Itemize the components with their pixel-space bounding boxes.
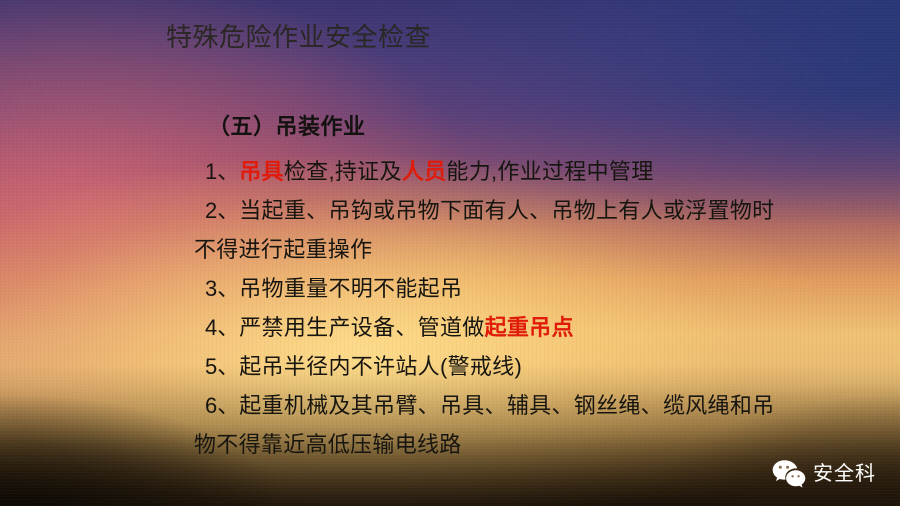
checklist-item: 4、严禁用生产设备、管道做起重吊点 bbox=[205, 308, 854, 347]
slide-title: 特殊危险作业安全检查 bbox=[166, 20, 431, 54]
checklist-item-text: 能力,作业过程中管理 bbox=[446, 159, 653, 184]
checklist-item-text: 检查,持证及 bbox=[284, 159, 402, 184]
checklist-item-text: 严禁用生产设备、管道做 bbox=[239, 315, 484, 340]
checklist-item-continuation: 不得进行起重操作 bbox=[194, 230, 854, 269]
section-heading: （五）吊装作业 bbox=[208, 112, 854, 142]
checklist-item: 2、当起重、吊钩或吊物下面有人、吊物上有人或浮置物时 bbox=[205, 191, 854, 230]
checklist-item-number: 1、 bbox=[205, 159, 239, 184]
checklist-item-text: 当起重、吊钩或吊物下面有人、吊物上有人或浮置物时 bbox=[239, 198, 774, 223]
slide-body: （五）吊装作业 1、吊具检查,持证及人员能力,作业过程中管理2、当起重、吊钩或吊… bbox=[194, 112, 854, 464]
checklist-item-number: 5、 bbox=[205, 354, 239, 379]
checklist-item-highlight: 吊具 bbox=[239, 159, 284, 184]
wechat-watermark: 安全科 bbox=[772, 459, 876, 489]
wechat-label: 安全科 bbox=[813, 461, 876, 487]
checklist-item: 5、起吊半径内不许站人(警戒线) bbox=[205, 347, 854, 386]
checklist-item-number: 6、 bbox=[205, 393, 239, 418]
checklist-item-number: 2、 bbox=[205, 198, 239, 223]
checklist-item-highlight: 人员 bbox=[402, 159, 447, 184]
checklist: 1、吊具检查,持证及人员能力,作业过程中管理2、当起重、吊钩或吊物下面有人、吊物… bbox=[194, 152, 854, 464]
checklist-item-number: 4、 bbox=[205, 315, 239, 340]
checklist-item: 6、起重机械及其吊臂、吊具、辅具、钢丝绳、缆风绳和吊 bbox=[205, 386, 854, 425]
checklist-item-continuation: 物不得靠近高低压输电线路 bbox=[194, 425, 854, 464]
checklist-item-text: 吊物重量不明不能起吊 bbox=[239, 276, 462, 301]
checklist-item-text: 起重机械及其吊臂、吊具、辅具、钢丝绳、缆风绳和吊 bbox=[239, 393, 774, 418]
wechat-icon bbox=[772, 459, 806, 489]
checklist-item-number: 3、 bbox=[205, 276, 239, 301]
checklist-item-highlight: 起重吊点 bbox=[485, 315, 574, 340]
slide-root: 特殊危险作业安全检查 （五）吊装作业 1、吊具检查,持证及人员能力,作业过程中管… bbox=[0, 0, 900, 506]
checklist-item: 1、吊具检查,持证及人员能力,作业过程中管理 bbox=[205, 152, 854, 191]
checklist-item: 3、吊物重量不明不能起吊 bbox=[205, 269, 854, 308]
checklist-item-text: 起吊半径内不许站人(警戒线) bbox=[239, 354, 522, 379]
